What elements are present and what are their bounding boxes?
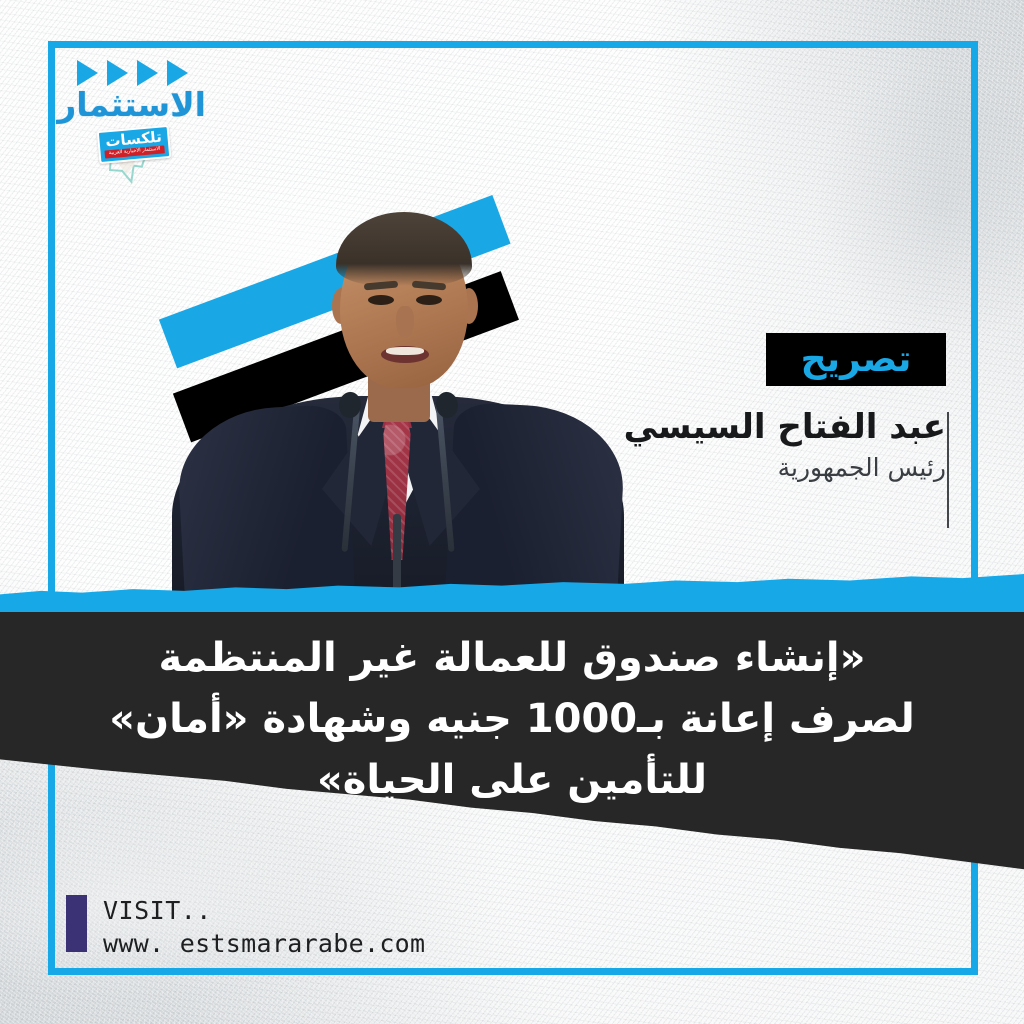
quote-line: «إنشاء صندوق للعمالة غير المنتظمة — [62, 628, 962, 689]
speaker-info: عبد الفتاح السيسي رئيس الجمهورية — [526, 408, 946, 483]
logo-wordmark: الاستثمار — [70, 88, 210, 121]
visit-accent-bar — [66, 895, 87, 952]
play-triangle-icon — [137, 60, 158, 86]
microphone-center-stand — [393, 514, 401, 594]
website-url[interactable]: www. estsmararabe.com — [103, 927, 425, 960]
play-triangle-icon — [77, 60, 98, 86]
play-triangle-icon — [167, 60, 188, 86]
logo-triangles — [70, 60, 210, 86]
declaration-label-box: تصريح — [766, 333, 946, 386]
badge-box: تلكسات الاستثمار الاخبارية العربية — [97, 125, 172, 164]
quote-line: للتأمين على الحياة» — [62, 750, 962, 811]
quote-text: «إنشاء صندوق للعمالة غير المنتظمة لصرف إ… — [0, 628, 1024, 810]
portrait-hair — [336, 212, 472, 286]
play-triangle-icon — [107, 60, 128, 86]
speaker-role: رئيس الجمهورية — [526, 453, 946, 483]
quote-line: لصرف إعانة بـ1000 جنيه وشهادة «أمان» — [62, 689, 962, 750]
portrait-suit-left-shoulder — [175, 404, 355, 596]
brand-logo[interactable]: الاستثمار — [70, 60, 210, 121]
portrait-eye-right — [416, 295, 442, 305]
portrait-nose — [396, 306, 414, 338]
declaration-label-text: تصريح — [801, 342, 912, 378]
visit-label: VISIT.. — [103, 894, 425, 927]
speaker-name: عبد الفتاح السيسي — [526, 408, 946, 447]
secondary-brand-badge[interactable]: تلكسات الاستثمار الاخبارية العربية — [98, 128, 170, 161]
poster-canvas: الاستثمار تلكسات الاستثمار الاخبارية الع… — [0, 0, 1024, 1024]
portrait-teeth — [386, 347, 424, 355]
speaker-divider-rule — [947, 412, 949, 528]
visit-block[interactable]: VISIT.. www. estsmararabe.com — [103, 894, 425, 960]
portrait-eye-left — [368, 295, 394, 305]
speaker-portrait-photo — [172, 196, 624, 596]
